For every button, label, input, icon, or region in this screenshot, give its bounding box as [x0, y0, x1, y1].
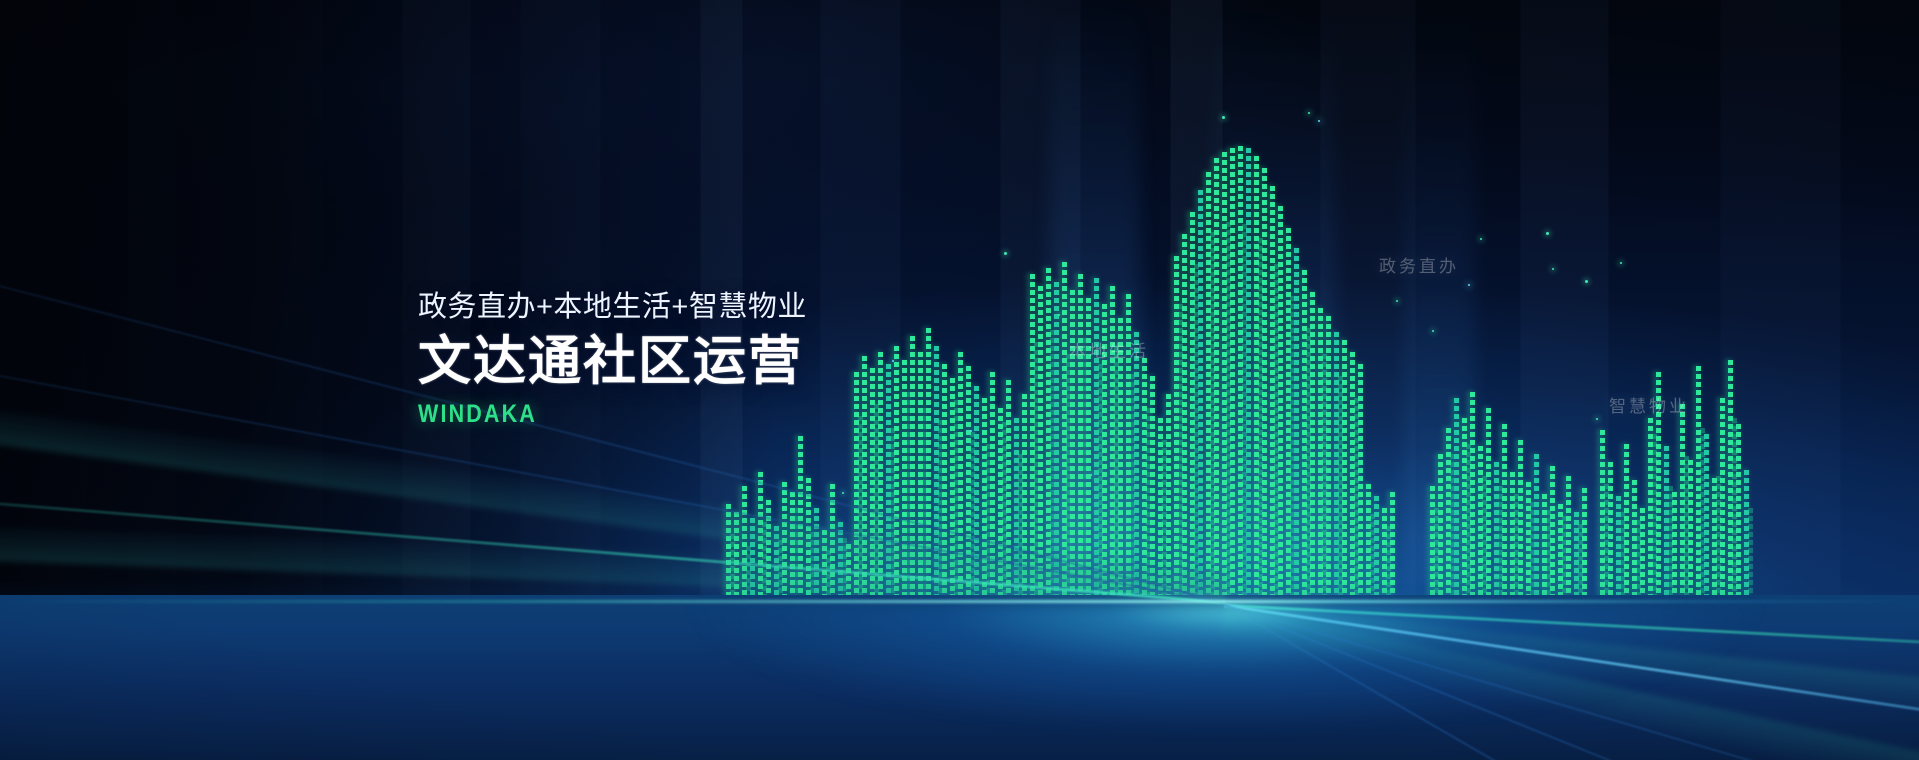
skyline-bar	[1704, 434, 1709, 604]
skyline-bar	[1230, 148, 1235, 604]
skyline-bar	[1550, 466, 1555, 604]
skyline-bar	[1278, 206, 1283, 604]
skyline-bar	[1382, 508, 1387, 604]
skyline-bar	[1680, 404, 1685, 604]
skyline-bar	[1720, 398, 1725, 604]
skyline-bar	[1318, 308, 1323, 604]
particle-dot	[1222, 116, 1225, 119]
headline-subtitle: 政务直办+本地生活+智慧物业	[418, 292, 1018, 324]
ghost-label-3: 智慧物业	[1609, 392, 1689, 417]
skyline-bar	[1744, 470, 1749, 604]
skyline-bar	[1632, 480, 1637, 604]
skyline-bar	[1190, 212, 1195, 604]
skyline-bar	[1326, 316, 1331, 604]
skyline-bar	[1510, 472, 1515, 604]
skyline-bar	[1624, 444, 1629, 604]
particle-dot	[1620, 262, 1622, 264]
ghost-label-1: 政务直办	[1379, 252, 1459, 277]
skyline-bar	[1302, 270, 1307, 604]
particle-dot	[1432, 330, 1434, 332]
ghost-label-2: 本地生活	[1069, 337, 1149, 362]
skyline-bar	[1342, 340, 1347, 604]
particle-dot	[1552, 268, 1554, 270]
skyline-bar	[1246, 148, 1251, 604]
particle-dot	[1468, 284, 1470, 286]
particle-dot	[1596, 418, 1598, 420]
skyline-bar	[1358, 364, 1363, 604]
particle-dot	[1090, 474, 1092, 476]
skyline-bar	[1446, 428, 1451, 604]
skyline-bar	[1648, 418, 1653, 604]
particle-dot	[842, 492, 844, 494]
skyline-bar	[1366, 484, 1371, 604]
particle-dot	[1004, 252, 1007, 255]
page-title: 文达通社区运营	[418, 333, 1018, 390]
skyline-bar	[1696, 366, 1701, 604]
skyline-bar	[1198, 190, 1203, 604]
particle-dot	[1308, 112, 1310, 114]
skyline-bar	[1310, 292, 1315, 604]
skyline-bar	[1582, 488, 1587, 604]
skyline-bar	[1688, 460, 1693, 604]
particle-dot	[1480, 238, 1482, 240]
skyline-bar	[1222, 152, 1227, 604]
skyline-bar	[1214, 158, 1219, 604]
skyline-bar	[1600, 430, 1605, 604]
horizon-glow	[475, 603, 1919, 760]
skyline-bar	[1736, 424, 1741, 604]
skyline-bar	[1566, 476, 1571, 604]
horizon-line	[0, 600, 1919, 603]
particle-dot	[970, 430, 972, 432]
headline-block: 政务直办+本地生活+智慧物业 文达通社区运营 WINDAKA	[418, 292, 1018, 429]
skyline-bar	[1518, 440, 1523, 604]
skyline-bar	[1558, 504, 1563, 604]
particle-dot	[1318, 120, 1320, 122]
skyline-bar	[1526, 482, 1531, 604]
particle-dot	[1585, 280, 1588, 283]
skyline-bar	[1462, 418, 1467, 604]
skyline-bar	[1712, 478, 1717, 604]
skyline-bar	[1608, 462, 1613, 604]
skyline-bar	[1438, 454, 1443, 604]
skyline-bar	[1494, 462, 1499, 604]
skyline-bar	[1374, 496, 1379, 604]
hero-banner: 政务直办本地生活智慧物业 政务直办+本地生活+智慧物业 文达通社区运营 WIND…	[0, 0, 1919, 760]
skyline-bar	[1728, 360, 1733, 604]
skyline-bar	[1470, 392, 1475, 604]
skyline-bar	[1294, 248, 1299, 604]
skyline-bar	[1270, 186, 1275, 604]
skyline-bar	[1542, 494, 1547, 604]
skyline-bar	[1478, 446, 1483, 604]
particle-dot	[1396, 300, 1398, 302]
skyline-bar	[1616, 496, 1621, 604]
skyline-bar	[1254, 156, 1259, 604]
skyline-bar	[1454, 398, 1459, 604]
skyline-bar	[1206, 172, 1211, 604]
skyline-bar	[1286, 228, 1291, 604]
skyline-bar	[1174, 256, 1179, 604]
skyline-bar	[1574, 512, 1579, 604]
skyline-bar	[1350, 352, 1355, 604]
skyline-bar	[1534, 454, 1539, 604]
skyline-bar	[1486, 408, 1491, 604]
skyline-bar	[1430, 486, 1435, 604]
skyline-bar	[1664, 446, 1669, 604]
skyline-bar	[1238, 146, 1243, 604]
skyline-bar	[1502, 424, 1507, 604]
particle-dot	[1546, 232, 1549, 235]
particle-dot	[1058, 314, 1060, 316]
skyline-bar	[1334, 332, 1339, 604]
skyline-bar	[1182, 234, 1187, 604]
skyline-bar	[1262, 168, 1267, 604]
skyline-bar	[1672, 492, 1677, 604]
skyline-bar	[1640, 508, 1645, 604]
brand-wordmark: WINDAKA	[418, 400, 934, 429]
skyline-bar	[1390, 492, 1395, 604]
